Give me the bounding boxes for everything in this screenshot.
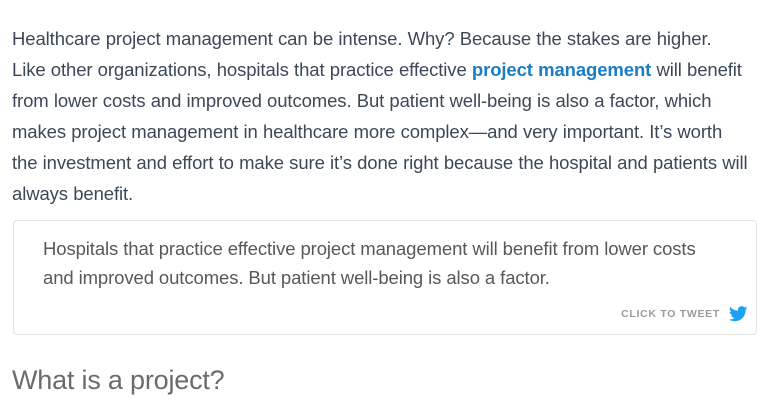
twitter-bird-icon bbox=[729, 306, 748, 322]
paragraph-text-after-link: will benefit from lower costs and improv… bbox=[12, 59, 748, 204]
article-page: Healthcare project management can be int… bbox=[0, 0, 770, 415]
section-heading: What is a project? bbox=[12, 363, 225, 397]
article-paragraph: Healthcare project management can be int… bbox=[12, 23, 750, 209]
project-management-link[interactable]: project management bbox=[472, 59, 651, 80]
click-to-tweet-button[interactable]: CLICK TO TWEET bbox=[621, 306, 748, 322]
click-to-tweet-label: CLICK TO TWEET bbox=[621, 309, 720, 320]
click-to-tweet-box[interactable]: Hospitals that practice effective projec… bbox=[13, 220, 757, 335]
tweet-quote-text: Hospitals that practice effective projec… bbox=[43, 235, 711, 292]
